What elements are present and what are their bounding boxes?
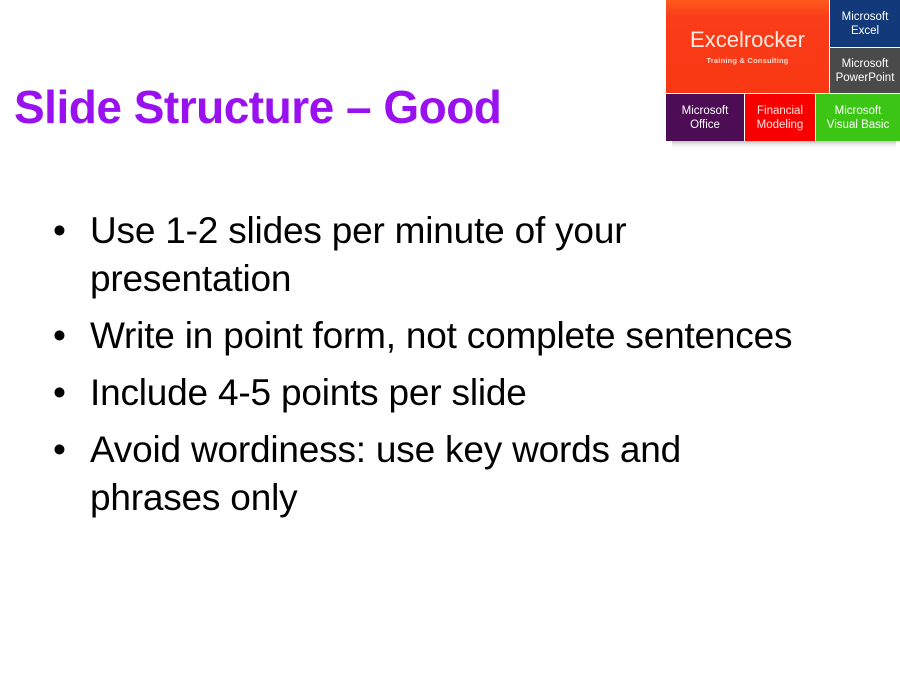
logo-tile-grid: Excelrocker Training & Consulting Micros…	[666, 0, 900, 141]
tile-line-2: Visual Basic	[827, 118, 889, 132]
logo-tile-financial-modeling: Financial Modeling	[745, 94, 815, 141]
bullet-text: Use 1-2 slides per minute of your presen…	[90, 207, 814, 303]
bullet-item: • Avoid wordiness: use key words and phr…	[44, 426, 814, 522]
bullet-item: • Use 1-2 slides per minute of your pres…	[44, 207, 814, 303]
logo-shadow	[672, 141, 896, 148]
logo-tile-powerpoint: Microsoft PowerPoint	[830, 48, 900, 93]
logo-tile-visual-basic: Microsoft Visual Basic	[816, 94, 900, 141]
brand-tagline: Training & Consulting	[706, 56, 788, 65]
excelrocker-logo: Excelrocker Training & Consulting Micros…	[666, 0, 900, 145]
bullet-item: • Write in point form, not complete sent…	[44, 312, 814, 360]
logo-tile-excel: Microsoft Excel	[830, 0, 900, 47]
slide-title: Slide Structure – Good	[14, 83, 501, 131]
presentation-slide: Slide Structure – Good • Use 1-2 slides …	[0, 0, 900, 675]
bullet-text: Include 4-5 points per slide	[90, 369, 814, 417]
bullet-marker-icon: •	[53, 207, 66, 255]
bullet-marker-icon: •	[53, 369, 66, 417]
bullet-marker-icon: •	[53, 312, 66, 360]
bullet-text: Write in point form, not complete senten…	[90, 312, 814, 360]
tile-line-1: Microsoft	[842, 10, 889, 24]
tile-line-2: PowerPoint	[836, 71, 895, 85]
tile-line-1: Financial	[757, 104, 803, 118]
logo-tile-brand: Excelrocker Training & Consulting	[666, 0, 829, 93]
bullet-item: • Include 4-5 points per slide	[44, 369, 814, 417]
tile-line-1: Microsoft	[682, 104, 729, 118]
tile-line-1: Microsoft	[835, 104, 882, 118]
tile-line-2: Excel	[851, 24, 879, 38]
tile-line-2: Modeling	[757, 118, 804, 132]
logo-tile-office: Microsoft Office	[666, 94, 744, 141]
tile-line-2: Office	[690, 118, 720, 132]
tile-line-1: Microsoft	[842, 57, 889, 71]
bullet-marker-icon: •	[53, 426, 66, 474]
bullet-text: Avoid wordiness: use key words and phras…	[90, 426, 814, 522]
bullet-list: • Use 1-2 slides per minute of your pres…	[44, 207, 814, 531]
brand-name: Excelrocker	[690, 28, 805, 51]
